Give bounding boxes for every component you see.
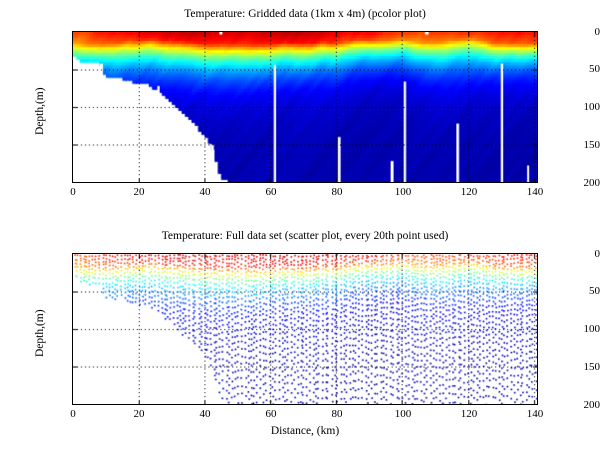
axes-scatter	[72, 253, 538, 405]
ytick-label: 0	[534, 26, 600, 38]
ytick-label: 100	[534, 323, 600, 335]
xtick-label: 0	[70, 186, 76, 198]
ylabel-gridded: Depth,(m)	[34, 87, 46, 135]
xtick-label: 140	[527, 186, 544, 198]
ytick-label: 0	[534, 248, 600, 260]
pcolor-plot-area	[73, 32, 537, 182]
figure-root: Temperature: Gridded data (1km x 4m) (pc…	[0, 0, 600, 451]
xtick-label: 60	[266, 186, 277, 198]
scatter-plot-area	[73, 254, 537, 404]
xtick-label: 80	[332, 186, 343, 198]
xtick-label: 20	[134, 408, 145, 420]
chart-title-gridded: Temperature: Gridded data (1km x 4m) (pc…	[70, 8, 540, 20]
ylabel-scatter: Depth,(m)	[34, 309, 46, 357]
panel-scatter: Temperature: Full data set (scatter plot…	[0, 222, 600, 451]
ytick-label: 200	[534, 177, 600, 189]
ytick-label: 100	[534, 101, 600, 113]
ytick-label: 50	[534, 63, 600, 75]
xtick-label: 40	[200, 408, 211, 420]
ytick-label: 150	[534, 361, 600, 373]
xtick-label: 40	[200, 186, 211, 198]
xtick-label: 20	[134, 186, 145, 198]
xtick-label: 100	[395, 186, 412, 198]
xtick-label: 120	[461, 186, 478, 198]
xtick-label: 100	[395, 408, 412, 420]
xtick-label: 140	[527, 408, 544, 420]
xtick-label: 120	[461, 408, 478, 420]
xtick-label: 60	[266, 408, 277, 420]
panel-gridded: Temperature: Gridded data (1km x 4m) (pc…	[0, 0, 600, 215]
ytick-label: 150	[534, 139, 600, 151]
xtick-label: 0	[70, 408, 76, 420]
ytick-label: 50	[534, 285, 600, 297]
xtick-label: 80	[332, 408, 343, 420]
xlabel-scatter: Distance, (km)	[205, 425, 405, 437]
axes-gridded	[72, 31, 538, 183]
ytick-label: 200	[534, 399, 600, 411]
chart-title-scatter: Temperature: Full data set (scatter plot…	[50, 230, 560, 242]
